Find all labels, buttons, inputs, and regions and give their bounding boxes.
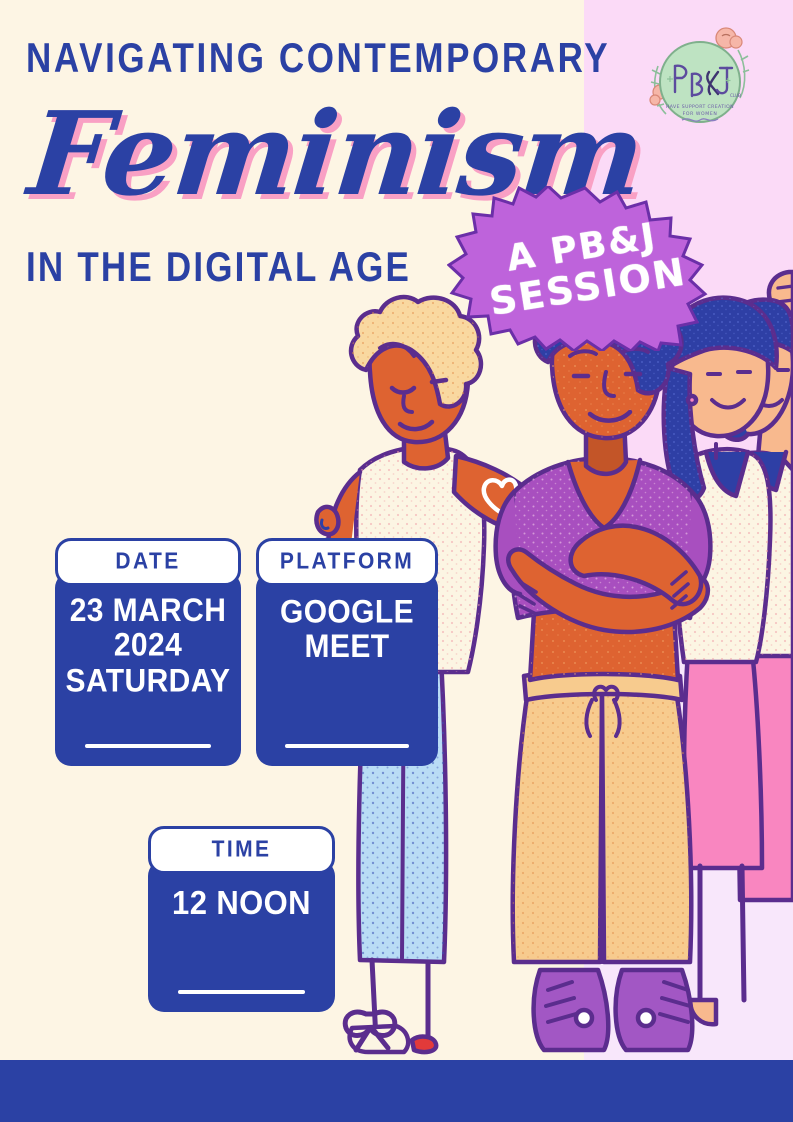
info-card-date: DATE 23 MARCH 2024 SATURDAY [55, 538, 241, 766]
card-heading-label: PLATFORM [280, 549, 414, 575]
badge-starburst-shape [447, 186, 723, 351]
card-header-platform: PLATFORM [256, 538, 438, 586]
headline-line-top: NAVIGATING CONTEMPORARY [26, 38, 610, 79]
card-underline-rule [178, 990, 305, 994]
card-body-time: 12 NOON [148, 860, 335, 1012]
card-header-date: DATE [55, 538, 241, 586]
logo-tagline-2: FOR WOMEN [683, 111, 718, 117]
card-underline-rule [85, 744, 211, 748]
card-value-time: 12 NOON [172, 885, 311, 921]
logo-club-word: CLUB [730, 93, 741, 98]
pbj-logo: CLUB HAVE SUPPORT CREATION FOR WOMEN [648, 26, 750, 130]
info-card-platform: PLATFORM GOOGLE MEET [256, 538, 438, 766]
card-heading-label: DATE [115, 549, 180, 575]
card-heading-label: TIME [212, 837, 272, 863]
bottom-blue-band [0, 1060, 793, 1122]
card-body-date: 23 MARCH 2024 SATURDAY [55, 572, 241, 766]
pbj-session-badge: A PB&J SESSION [447, 186, 723, 351]
card-underline-rule [285, 744, 408, 748]
card-value-platform: GOOGLE MEET [280, 595, 414, 665]
logo-tagline-1: HAVE SUPPORT CREATION [666, 104, 734, 110]
card-body-platform: GOOGLE MEET [256, 572, 438, 766]
info-card-time: TIME 12 NOON [148, 826, 335, 1012]
background-pink-lower-panel [584, 640, 793, 1122]
card-value-date: 23 MARCH 2024 SATURDAY [66, 594, 231, 699]
card-header-time: TIME [148, 826, 335, 874]
poster-canvas: NAVIGATING CONTEMPORARY Feminism Feminis… [0, 0, 793, 1122]
